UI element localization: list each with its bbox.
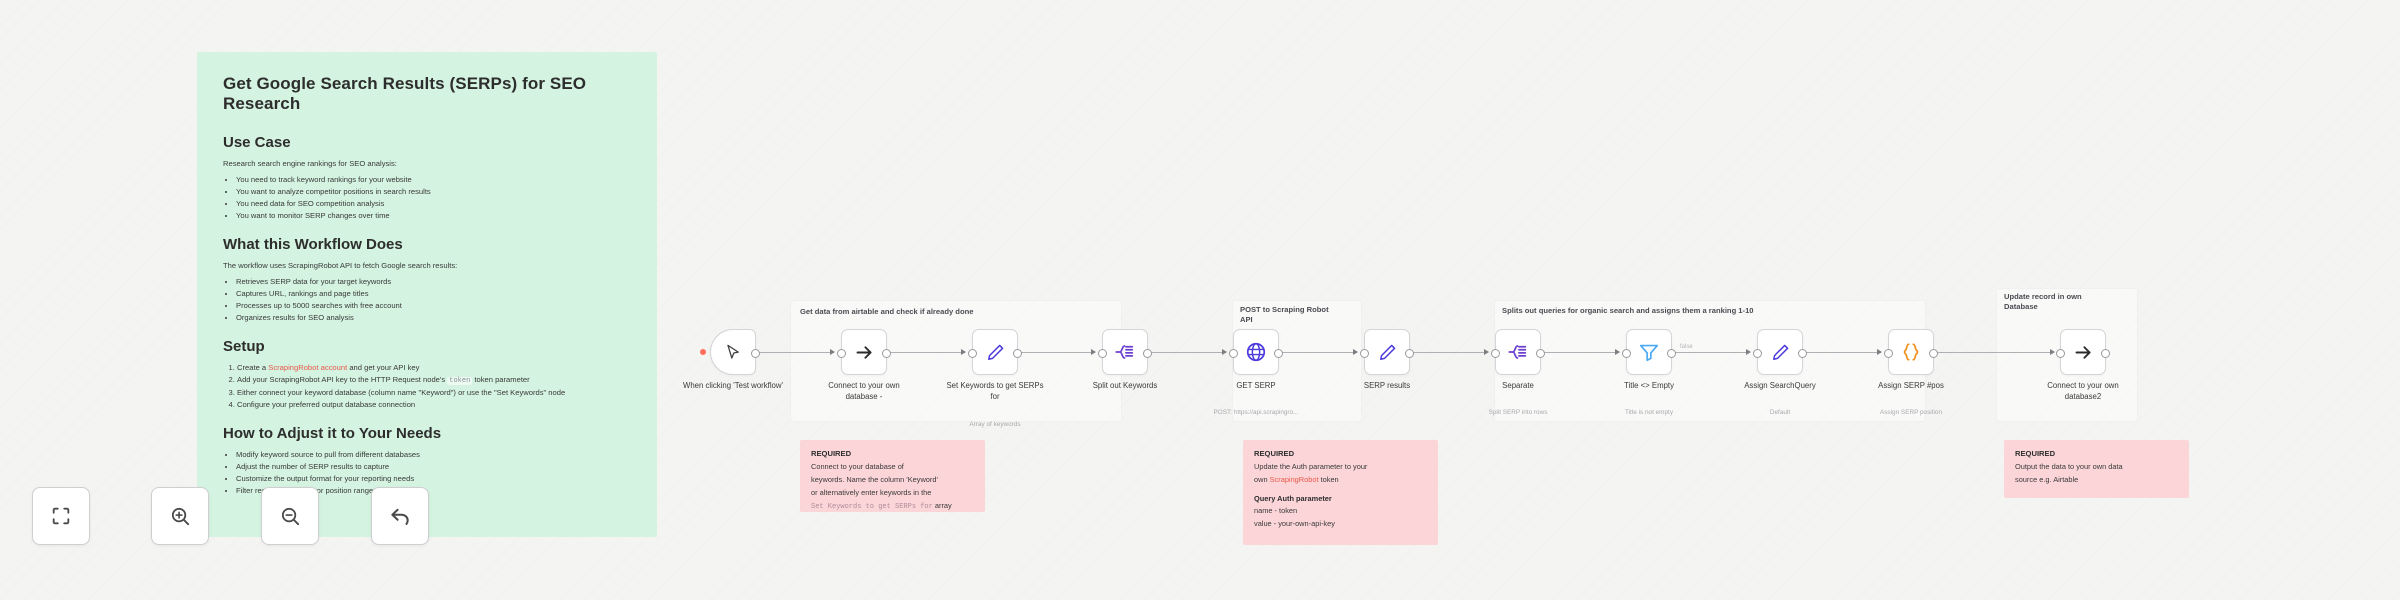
required-param: value - your-own-api-key — [1254, 518, 1427, 529]
output-port[interactable] — [1405, 349, 1414, 358]
list-item: Adjust the number of SERP results to cap… — [236, 461, 631, 473]
pencil-icon — [985, 342, 1006, 363]
workflow-canvas[interactable]: Get Google Search Results (SERPs) for SE… — [0, 0, 2400, 600]
reset-zoom-button[interactable] — [371, 487, 429, 545]
node-box[interactable] — [841, 329, 887, 375]
node-box[interactable] — [1626, 329, 1672, 375]
node-box[interactable] — [1757, 329, 1803, 375]
node-label: Separate — [1466, 381, 1570, 392]
what-it-does-list: Retrieves SERP data for your target keyw… — [223, 276, 631, 324]
required-title: REQUIRED — [811, 449, 974, 458]
zoom-out-icon — [279, 505, 302, 528]
node-set-keywords[interactable]: Set Keywords to get SERPs for Array of k… — [972, 329, 1018, 375]
connector — [1672, 352, 1750, 353]
list-item: Modify keyword source to pull from diffe… — [236, 449, 631, 461]
sticky-title: Get Google Search Results (SERPs) for SE… — [223, 74, 631, 114]
output-port[interactable] — [1929, 349, 1938, 358]
sticky-note-documentation[interactable]: Get Google Search Results (SERPs) for SE… — [197, 52, 657, 537]
required-line: source e.g. Airtable — [2015, 474, 2178, 485]
connector — [756, 352, 834, 353]
node-connect-to-your-own-database2[interactable]: Connect to your own database2 — [2060, 329, 2106, 375]
node-group-organic — [1494, 300, 1926, 422]
node-label: Set Keywords to get SERPs for — [943, 381, 1047, 402]
connector — [1148, 352, 1226, 353]
output-port[interactable] — [1798, 349, 1807, 358]
node-label: Assign SERP #pos — [1859, 381, 1963, 392]
what-it-does-intro: The workflow uses ScrapingRobot API to f… — [223, 260, 631, 271]
list-item: You want to analyze competitor positions… — [236, 186, 631, 198]
node-box[interactable] — [1364, 329, 1410, 375]
group-caption-update: Update record in own Database — [2004, 292, 2114, 313]
connector — [1410, 352, 1488, 353]
undo-icon — [389, 505, 412, 528]
input-port[interactable] — [837, 349, 846, 358]
required-line-link: own ScrapingRobot token — [1254, 474, 1427, 485]
output-port[interactable] — [751, 349, 760, 358]
code-braces-icon — [1900, 341, 1922, 363]
list-item: Processes up to 5000 searches with free … — [236, 300, 631, 312]
node-subtitle: Array of keywords — [936, 421, 1054, 429]
required-line-code: Set Keywords to get SERPs for array — [811, 500, 974, 513]
node-split-out-keywords[interactable]: Split out Keywords — [1102, 329, 1148, 375]
node-title-not-empty-filter[interactable]: Title <> Empty Title is not empty — [1626, 329, 1672, 375]
output-port[interactable] — [2101, 349, 2110, 358]
arrow-right-icon — [854, 342, 875, 363]
zoom-in-icon — [169, 505, 192, 528]
setup-heading: Setup — [223, 338, 631, 355]
group-caption-scrapingrobot: POST to Scraping Robot API — [1240, 305, 1338, 326]
use-case-intro: Research search engine rankings for SEO … — [223, 158, 631, 169]
globe-icon — [1245, 341, 1267, 363]
output-port[interactable] — [1536, 349, 1545, 358]
group-caption-organic: Splits out queries for organic search an… — [1502, 306, 1922, 316]
connector — [1541, 352, 1619, 353]
list-item: Create a ScrapingRobot account and get y… — [237, 362, 631, 374]
connector — [1279, 352, 1357, 353]
node-subtitle: Split SERP into rows — [1459, 409, 1577, 417]
required-title: REQUIRED — [1254, 449, 1427, 458]
scrapingrobot-link[interactable]: ScrapingRobot — [1270, 475, 1319, 484]
node-assign-searchquery[interactable]: Assign SearchQuery Default — [1757, 329, 1803, 375]
group-caption-airtable: Get data from airtable and check if alre… — [800, 307, 1120, 317]
pencil-icon — [1377, 342, 1398, 363]
node-box[interactable] — [2060, 329, 2106, 375]
node-when-clicking-test-workflow[interactable]: When clicking 'Test workflow' — [710, 329, 756, 375]
fit-to-view-button[interactable] — [32, 487, 90, 545]
input-port[interactable] — [1360, 349, 1369, 358]
scrapingrobot-link[interactable]: ScrapingRobot account — [268, 363, 347, 372]
input-port[interactable] — [2056, 349, 2065, 358]
node-label: Connect to your own database - — [812, 381, 916, 402]
output-port[interactable] — [1667, 349, 1676, 358]
node-box[interactable] — [710, 329, 756, 375]
input-port[interactable] — [1884, 349, 1893, 358]
node-label: Assign SearchQuery — [1728, 381, 1832, 392]
list-item: Captures URL, rankings and page titles — [236, 288, 631, 300]
node-subtitle: POST: https://api.scrapingro... — [1197, 409, 1315, 417]
output-port[interactable] — [1143, 349, 1152, 358]
split-out-icon — [1114, 341, 1136, 363]
required-line: Update the Auth parameter to your — [1254, 461, 1427, 472]
node-serp-results[interactable]: SERP results — [1364, 329, 1410, 375]
use-case-heading: Use Case — [223, 134, 631, 151]
list-item: You need to track keyword rankings for y… — [236, 174, 631, 186]
token-code-chip: token — [447, 377, 472, 385]
list-item: Either connect your keyword database (co… — [237, 387, 631, 399]
node-separate[interactable]: Separate Split SERP into rows — [1495, 329, 1541, 375]
sticky-note-required-output[interactable]: REQUIRED Output the data to your own dat… — [2004, 440, 2189, 498]
list-item: You want to monitor SERP changes over ti… — [236, 210, 631, 222]
input-port[interactable] — [1098, 349, 1107, 358]
zoom-out-button[interactable] — [261, 487, 319, 545]
input-port[interactable] — [968, 349, 977, 358]
node-group-airtable — [790, 300, 1122, 422]
node-label: SERP results — [1335, 381, 1439, 392]
inline-code: Set Keywords to get SERPs for — [811, 503, 933, 511]
node-label: Split out Keywords — [1073, 381, 1177, 392]
arrow-right-icon — [2073, 342, 2094, 363]
input-port[interactable] — [1753, 349, 1762, 358]
split-out-icon — [1507, 341, 1529, 363]
sticky-note-required-database[interactable]: REQUIRED Connect to your database of key… — [800, 440, 985, 512]
node-subtitle: Assign SERP position — [1852, 409, 1970, 417]
list-item: You need data for SEO competition analys… — [236, 198, 631, 210]
node-box[interactable] — [1233, 329, 1279, 375]
node-label: GET SERP — [1204, 381, 1308, 392]
list-item: Retrieves SERP data for your target keyw… — [236, 276, 631, 288]
node-box[interactable] — [1888, 329, 1934, 375]
node-label: Connect to your own database2 — [2031, 381, 2135, 402]
output-port[interactable] — [1013, 349, 1022, 358]
required-line: Output the data to your own data — [2015, 461, 2178, 472]
required-line: Connect to your database of — [811, 461, 974, 472]
required-subheading: Query Auth parameter — [1254, 494, 1427, 503]
required-param: name - token — [1254, 505, 1427, 516]
connector — [1803, 352, 1881, 353]
connector — [887, 352, 965, 353]
pencil-icon — [1770, 342, 1791, 363]
node-assign-serp-position[interactable]: Assign SERP #pos Assign SERP position — [1888, 329, 1934, 375]
cursor-icon — [724, 343, 743, 362]
node-box[interactable] — [1102, 329, 1148, 375]
list-item: Organizes results for SEO analysis — [236, 312, 631, 324]
branch-label-false: false — [1680, 344, 1693, 350]
node-box[interactable] — [1495, 329, 1541, 375]
required-title: REQUIRED — [2015, 449, 2178, 458]
list-item: Add your ScrapingRobot API key to the HT… — [237, 374, 631, 387]
required-line: or alternatively enter keywords in the — [811, 487, 974, 498]
what-it-does-heading: What this Workflow Does — [223, 236, 631, 253]
node-subtitle: Default — [1721, 409, 1839, 417]
connector — [1018, 352, 1095, 353]
node-subtitle: Title is not empty — [1590, 409, 1708, 417]
trigger-indicator-dot — [700, 349, 706, 355]
input-port[interactable] — [1229, 349, 1238, 358]
required-line: keywords. Name the column 'Keyword' — [811, 474, 974, 485]
sticky-note-required-auth[interactable]: REQUIRED Update the Auth parameter to yo… — [1243, 440, 1438, 545]
fit-to-view-icon — [50, 505, 72, 527]
input-port[interactable] — [1491, 349, 1500, 358]
output-port[interactable] — [1274, 349, 1283, 358]
connector — [1934, 352, 2054, 353]
input-port[interactable] — [1622, 349, 1631, 358]
adjust-heading: How to Adjust it to Your Needs — [223, 425, 631, 442]
node-box[interactable] — [972, 329, 1018, 375]
node-get-serp[interactable]: GET SERP POST: https://api.scrapingro... — [1233, 329, 1279, 375]
use-case-list: You need to track keyword rankings for y… — [223, 174, 631, 222]
filter-icon — [1638, 341, 1660, 363]
node-label: When clicking 'Test workflow' — [681, 381, 785, 392]
zoom-in-button[interactable] — [151, 487, 209, 545]
list-item: Customize the output format for your rep… — [236, 473, 631, 485]
list-item: Configure your preferred output database… — [237, 399, 631, 411]
setup-list: Create a ScrapingRobot account and get y… — [223, 362, 631, 411]
node-connect-to-your-own-database[interactable]: Connect to your own database - — [841, 329, 887, 375]
node-label: Title <> Empty — [1597, 381, 1701, 392]
output-port[interactable] — [882, 349, 891, 358]
